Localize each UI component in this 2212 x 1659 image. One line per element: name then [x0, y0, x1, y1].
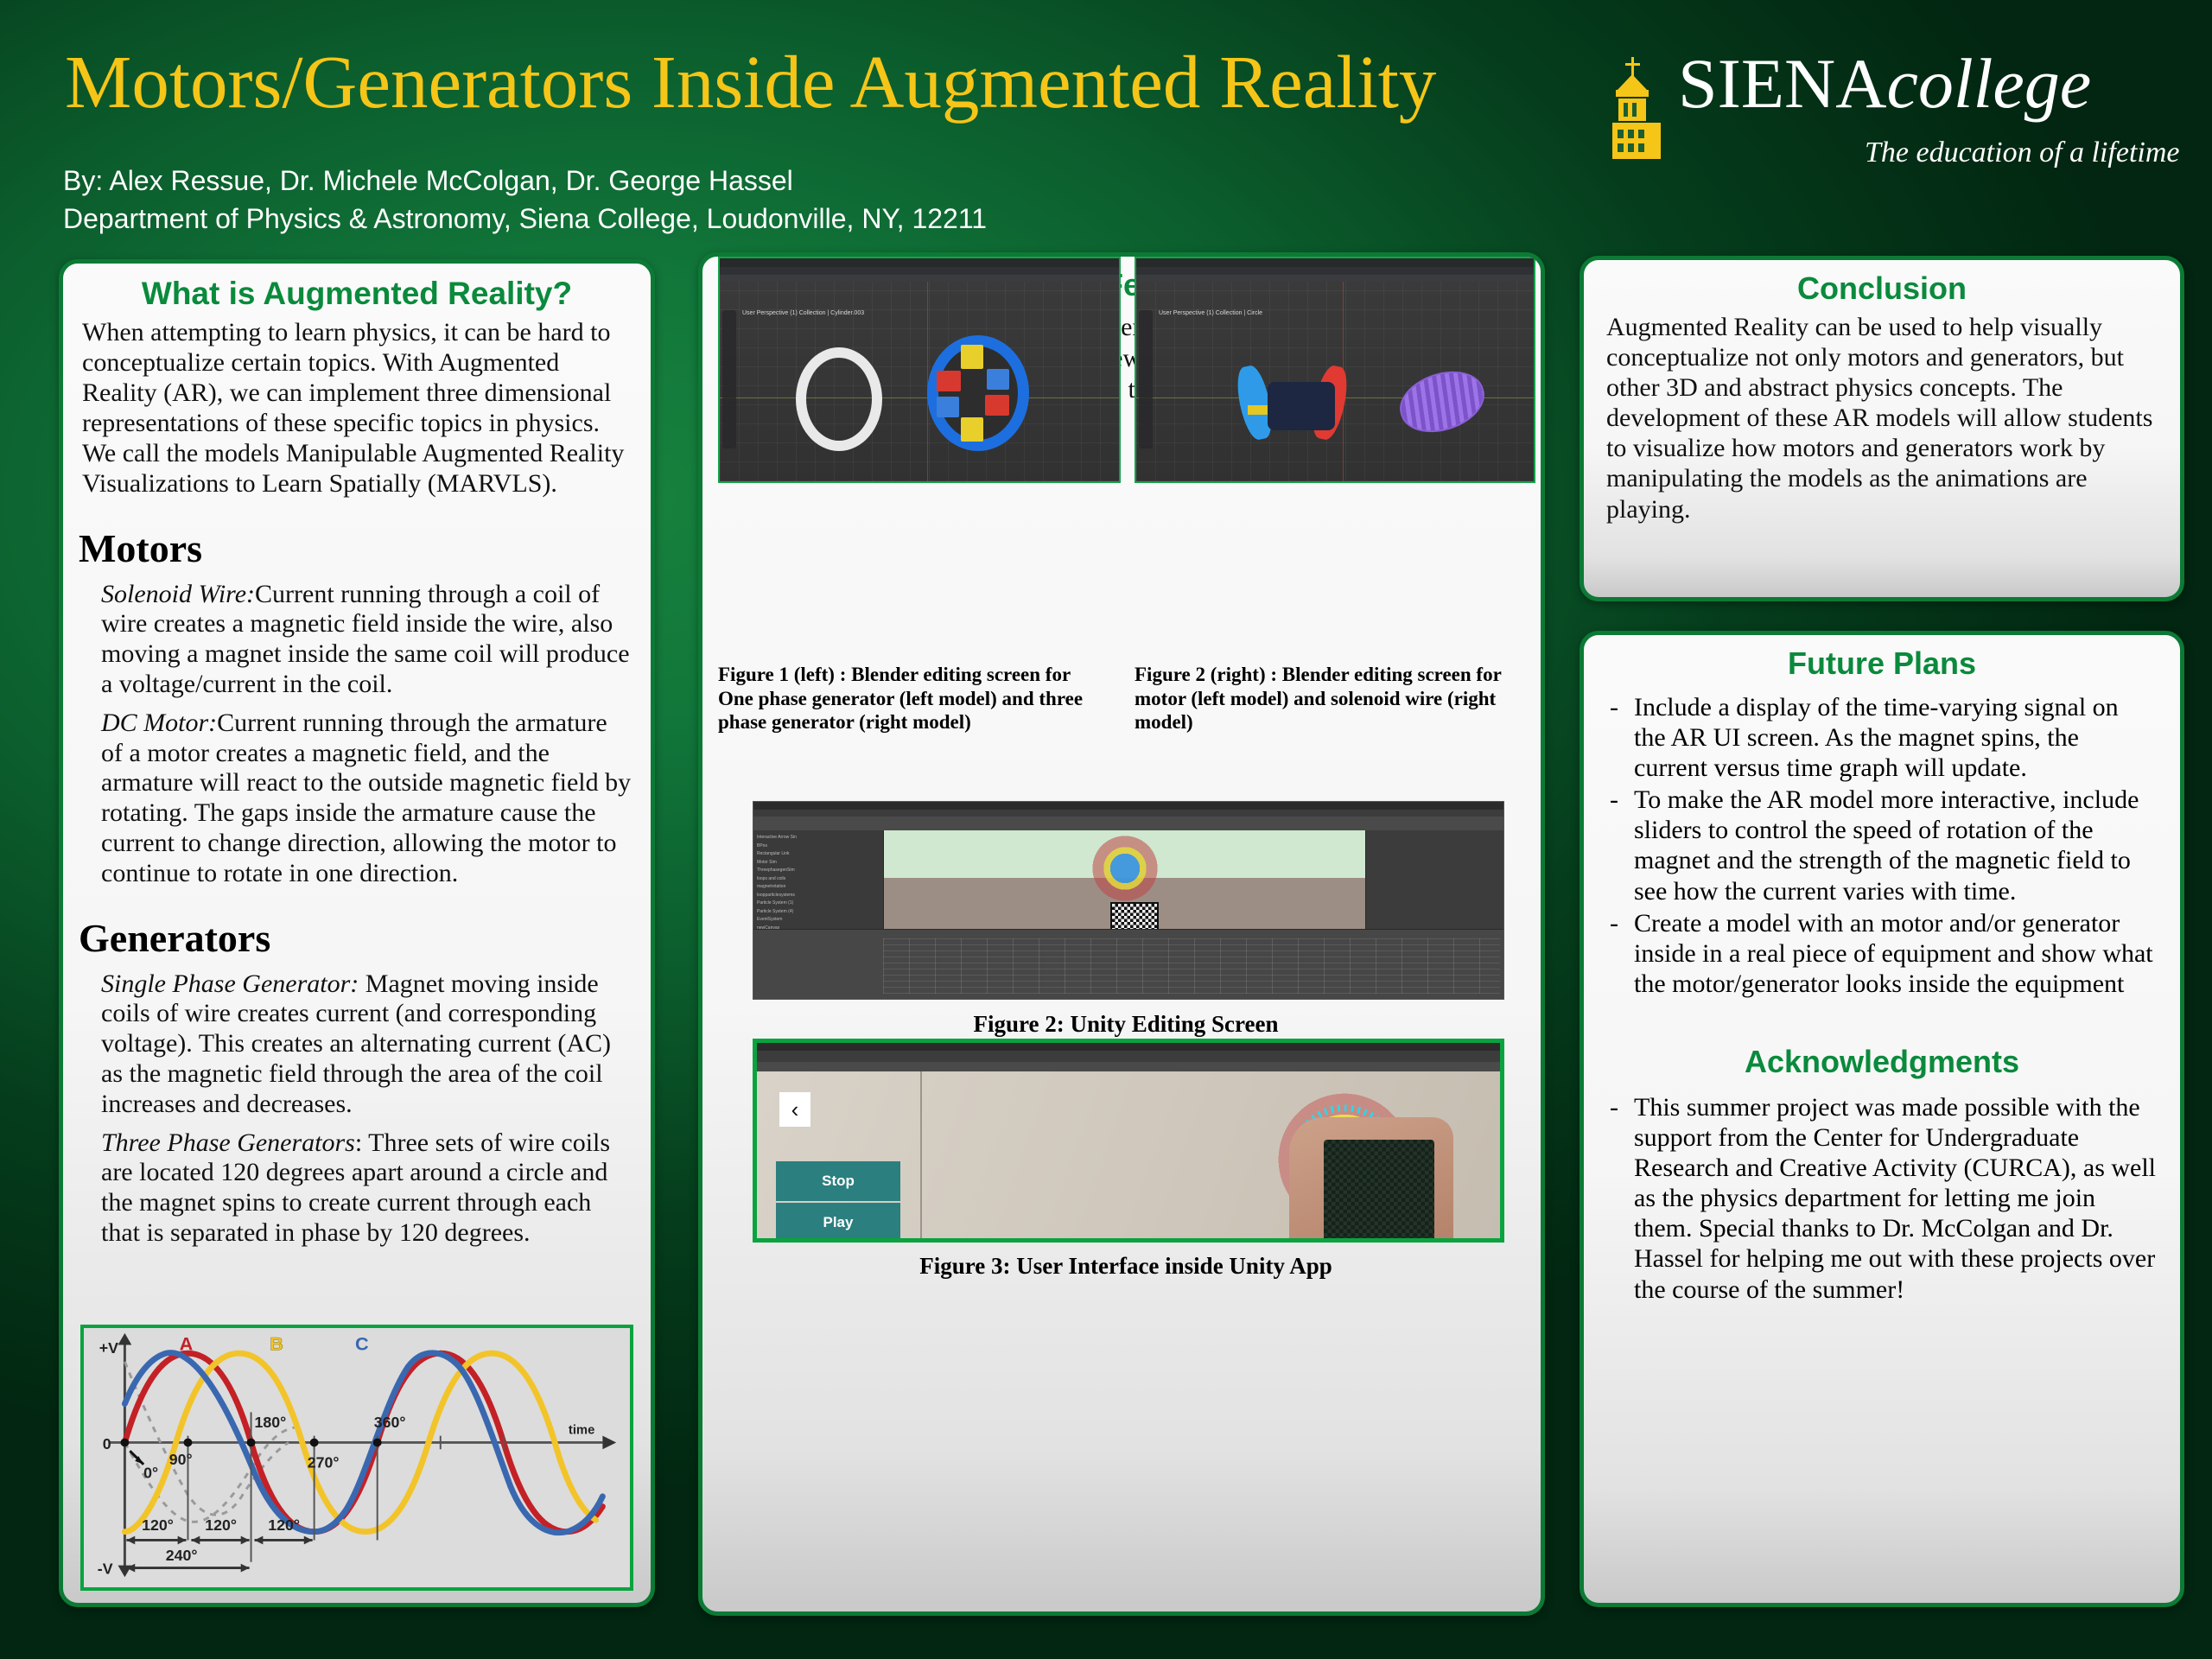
list-item: - To make the AR model more interactive,… — [1610, 785, 2156, 906]
blender-viewport: User Perspective (1) Collection | Cylind… — [720, 282, 1119, 481]
figure-1-caption: Figure 1 (left) : Blender editing screen… — [718, 663, 1107, 734]
panel-setup-features: Setup/Features Our models were built usi… — [698, 252, 1545, 1616]
unity-figure-caption: Figure 2: Unity Editing Screen — [702, 1010, 1545, 1038]
page-title: Motors/Generators Inside Augmented Reali… — [65, 38, 1436, 125]
svg-text:270°: 270° — [308, 1454, 340, 1471]
intro-title: What is Augmented Reality? — [63, 276, 651, 312]
acknowledgments-list: - This summer project was made possible … — [1584, 1087, 2180, 1305]
logo-college: college — [1886, 44, 2091, 123]
unity-hierarchy-rows: Interactive Arrow SinBPosRectangular Lin… — [757, 834, 878, 932]
generators-item-three-phase: Three Phase Generators: Three sets of wi… — [63, 1128, 651, 1249]
blender-topbar — [720, 258, 1119, 267]
blender-x-axis — [720, 397, 1119, 398]
svg-text:time: time — [569, 1424, 594, 1438]
term-three-phase: Three Phase Generators — [101, 1128, 355, 1157]
unity-toolbar[interactable] — [753, 817, 1503, 830]
blender-viewport-label-2: User Perspective (1) Collection | Circle — [1159, 309, 1262, 319]
coil-yellow-bottom — [961, 417, 983, 442]
one-phase-generator-model — [796, 347, 882, 451]
unity-inspector-panel[interactable] — [1365, 830, 1503, 930]
blender-toolbar-icons[interactable] — [722, 310, 736, 448]
conclusion-title: Conclusion — [1584, 270, 2180, 307]
svg-text:A: A — [180, 1332, 194, 1354]
intro-body: When attempting to learn physics, it can… — [63, 317, 651, 499]
figure-1-blender-screenshot: User Perspective (1) Collection | Cylind… — [718, 257, 1121, 483]
blender-viewport-label: User Perspective (1) Collection | Cylind… — [742, 309, 864, 319]
svg-text:360°: 360° — [374, 1414, 406, 1431]
ar-display-bar[interactable] — [757, 1062, 1500, 1071]
bullet-dash: - — [1610, 785, 1634, 906]
term-single-phase: Single Phase Generator: — [101, 969, 359, 998]
coil-red-left — [937, 371, 961, 391]
term-dc-motor: DC Motor: — [101, 709, 217, 737]
wall-seam — [920, 1071, 922, 1238]
ar-target-card — [1324, 1140, 1434, 1243]
svg-text:120°: 120° — [268, 1516, 300, 1534]
future-bullet-text: To make the AR model more interactive, i… — [1634, 785, 2156, 906]
svg-text:120°: 120° — [142, 1516, 174, 1534]
back-button[interactable]: ‹ — [779, 1092, 810, 1127]
ar-toolbar[interactable] — [757, 1051, 1500, 1062]
siena-college-logo: SIENAcollege The education of a lifetime — [1588, 48, 2158, 195]
svg-text:180°: 180° — [255, 1414, 287, 1431]
svg-text:90°: 90° — [169, 1451, 193, 1468]
logo-siena: SIENA — [1678, 44, 1886, 123]
acknowledgments-title: Acknowledgments — [1584, 1044, 2180, 1080]
unity-scene-view[interactable] — [884, 830, 1365, 930]
motors-heading: Motors — [79, 525, 651, 571]
ar-figure-caption: Figure 3: User Interface inside Unity Ap… — [702, 1252, 1545, 1280]
unity-menu-bar — [753, 810, 1503, 817]
unity-animation-panel[interactable] — [753, 929, 1503, 999]
blender-tool-bar-2 — [1136, 275, 1534, 282]
solenoid-wire-model — [1392, 361, 1492, 442]
coil-blue-lower — [937, 397, 959, 417]
three-phase-waveform-chart: +V -V 0 time 0° 90° 180° 270° 360° 120° … — [80, 1325, 633, 1591]
logo-tagline: The education of a lifetime — [1865, 137, 2180, 169]
coil-blue-upper — [987, 369, 1009, 390]
blender-header-bar-2 — [1136, 267, 1534, 275]
figure-2-blender-screenshot: User Perspective (1) Collection | Circle — [1135, 257, 1535, 483]
blender-topbar-2 — [1136, 258, 1534, 267]
list-item: - Include a display of the time-varying … — [1610, 692, 2156, 783]
motors-item-solenoid: Solenoid Wire:Current running through a … — [63, 580, 651, 700]
svg-text:240°: 240° — [166, 1547, 198, 1564]
future-plans-list: - Include a display of the time-varying … — [1584, 687, 2180, 999]
list-item: - This summer project was made possible … — [1610, 1092, 2156, 1305]
panel-what-is-ar: What is Augmented Reality? When attempti… — [59, 259, 655, 1607]
blender-viewport-2: User Perspective (1) Collection | Circle — [1136, 282, 1534, 481]
term-solenoid-wire: Solenoid Wire: — [101, 580, 255, 608]
blender-header-bar — [720, 267, 1119, 275]
list-item: - Create a model with an motor and/or ge… — [1610, 908, 2156, 999]
unity-title-bar — [753, 802, 1503, 810]
svg-text:-V: -V — [98, 1560, 113, 1578]
byline: By: Alex Ressue, Dr. Michele McColgan, D… — [63, 162, 987, 238]
bell-tower-icon — [1597, 55, 1676, 162]
svg-text:0°: 0° — [143, 1464, 158, 1481]
unity-editing-screenshot: Interactive Arrow SinBPosRectangular Lin… — [753, 801, 1504, 1000]
motors-item-dc-motor: DC Motor:Current running through the arm… — [63, 709, 651, 889]
future-plans-title: Future Plans — [1584, 645, 2180, 682]
svg-text:0: 0 — [103, 1435, 111, 1452]
motor-armature — [1268, 382, 1335, 430]
authors-line: By: Alex Ressue, Dr. Michele McColgan, D… — [63, 162, 987, 199]
bullet-dash: - — [1610, 908, 1634, 999]
bullet-dash: - — [1610, 1092, 1634, 1305]
panel-conclusion: Conclusion Augmented Reality can be used… — [1580, 256, 2184, 601]
ar-ui-screenshot: ‹ Stop Play Turn off Blue Loop Turn off … — [753, 1039, 1504, 1243]
coil-yellow-top — [961, 345, 983, 369]
affiliation-line: Department of Physics & Astronomy, Siena… — [63, 200, 987, 237]
blender-toolbar-icons-2[interactable] — [1139, 310, 1153, 448]
play-button[interactable]: Play — [776, 1203, 900, 1243]
stop-button[interactable]: Stop — [776, 1161, 900, 1201]
logo-wordmark: SIENAcollege — [1678, 48, 2091, 119]
generators-item-single-phase: Single Phase Generator: Magnet moving in… — [63, 969, 651, 1120]
figure-2-caption: Figure 2 (right) : Blender editing scree… — [1135, 663, 1523, 734]
blender-tool-bar — [720, 275, 1119, 282]
svg-text:C: C — [355, 1332, 369, 1354]
panel-future-plans: Future Plans - Include a display of the … — [1580, 631, 2184, 1607]
waveform-svg: +V -V 0 time 0° 90° 180° 270° 360° 120° … — [84, 1328, 630, 1587]
unity-hierarchy-panel[interactable]: Interactive Arrow SinBPosRectangular Lin… — [753, 830, 884, 930]
generators-heading: Generators — [79, 915, 651, 961]
future-bullet-text: Include a display of the time-varying si… — [1634, 692, 2156, 783]
future-bullet-text: Create a model with an motor and/or gene… — [1634, 908, 2156, 999]
svg-text:120°: 120° — [205, 1516, 237, 1534]
coil-red-right — [985, 395, 1009, 416]
three-phase-generator-model — [927, 335, 1029, 451]
ar-title-bar — [757, 1043, 1500, 1051]
svg-text:B: B — [270, 1332, 283, 1354]
ar-camera-feed: ‹ Stop Play Turn off Blue Loop Turn off … — [757, 1071, 1500, 1238]
generator-ar-marker — [1092, 836, 1158, 901]
acknowledgments-text: This summer project was made possible wi… — [1634, 1092, 2156, 1305]
svg-text:+V: +V — [99, 1339, 118, 1357]
poster-header: Motors/Generators Inside Augmented Reali… — [0, 0, 2212, 251]
bullet-dash: - — [1610, 692, 1634, 783]
unity-animation-timeline[interactable] — [883, 938, 1500, 994]
conclusion-body: Augmented Reality can be used to help vi… — [1584, 312, 2180, 524]
